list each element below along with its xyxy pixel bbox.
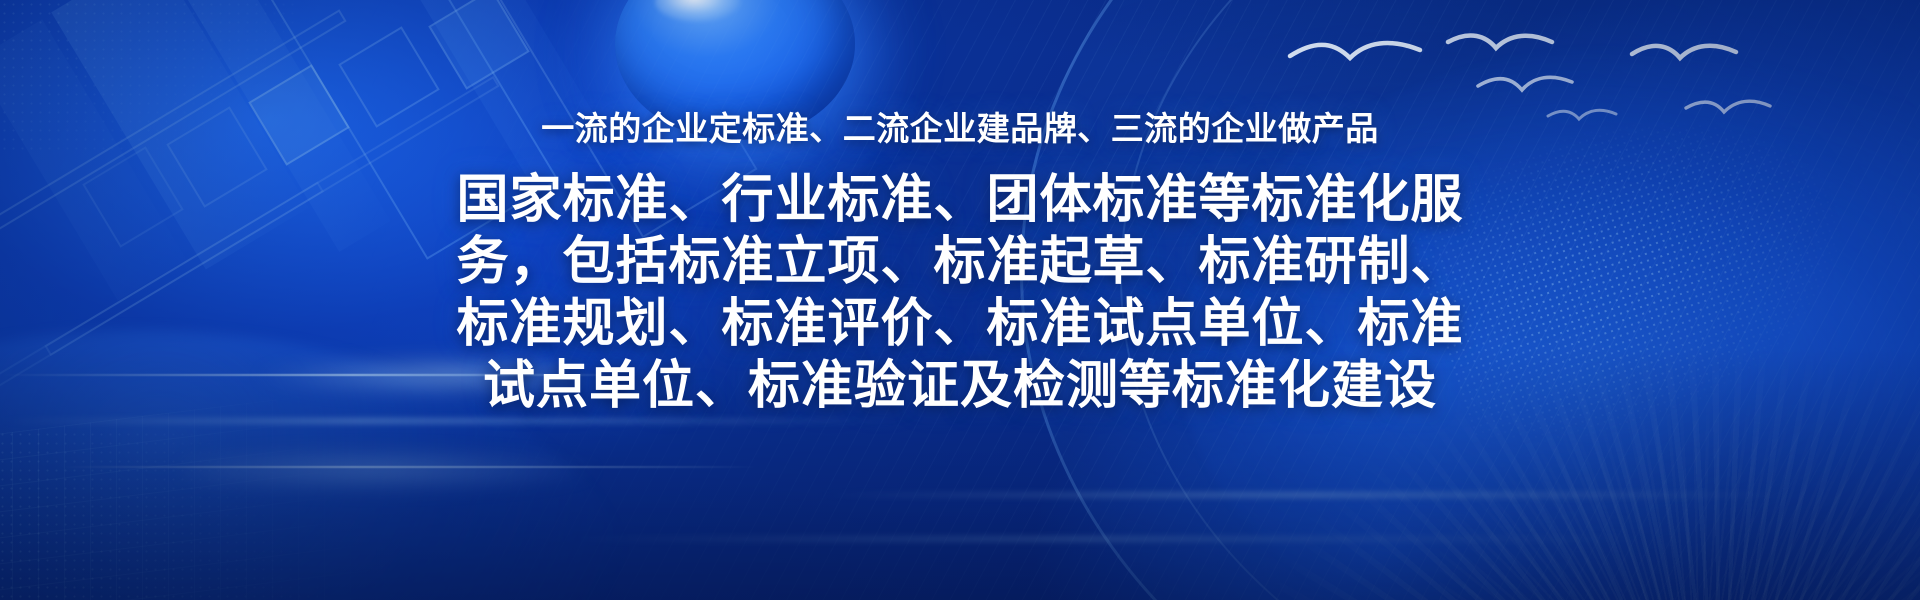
banner-headline: 一流的企业定标准、二流企业建品牌、三流的企业做产品 (541, 112, 1379, 145)
tech-banner: 一流的企业定标准、二流企业建品牌、三流的企业做产品 国家标准、行业标准、团体标准… (0, 0, 1920, 600)
banner-text-block: 一流的企业定标准、二流企业建品牌、三流的企业做产品 国家标准、行业标准、团体标准… (0, 0, 1920, 600)
banner-body-line: 务，包括标准立项、标准起草、标准研制、 (330, 231, 1590, 293)
banner-body-line: 试点单位、标准验证及检测等标准化建设 (330, 355, 1590, 417)
banner-body-line: 标准规划、标准评价、标准试点单位、标准 (330, 293, 1590, 355)
banner-body-line: 国家标准、行业标准、团体标准等标准化服 (330, 169, 1590, 231)
banner-body: 国家标准、行业标准、团体标准等标准化服 务，包括标准立项、标准起草、标准研制、 … (330, 169, 1590, 417)
